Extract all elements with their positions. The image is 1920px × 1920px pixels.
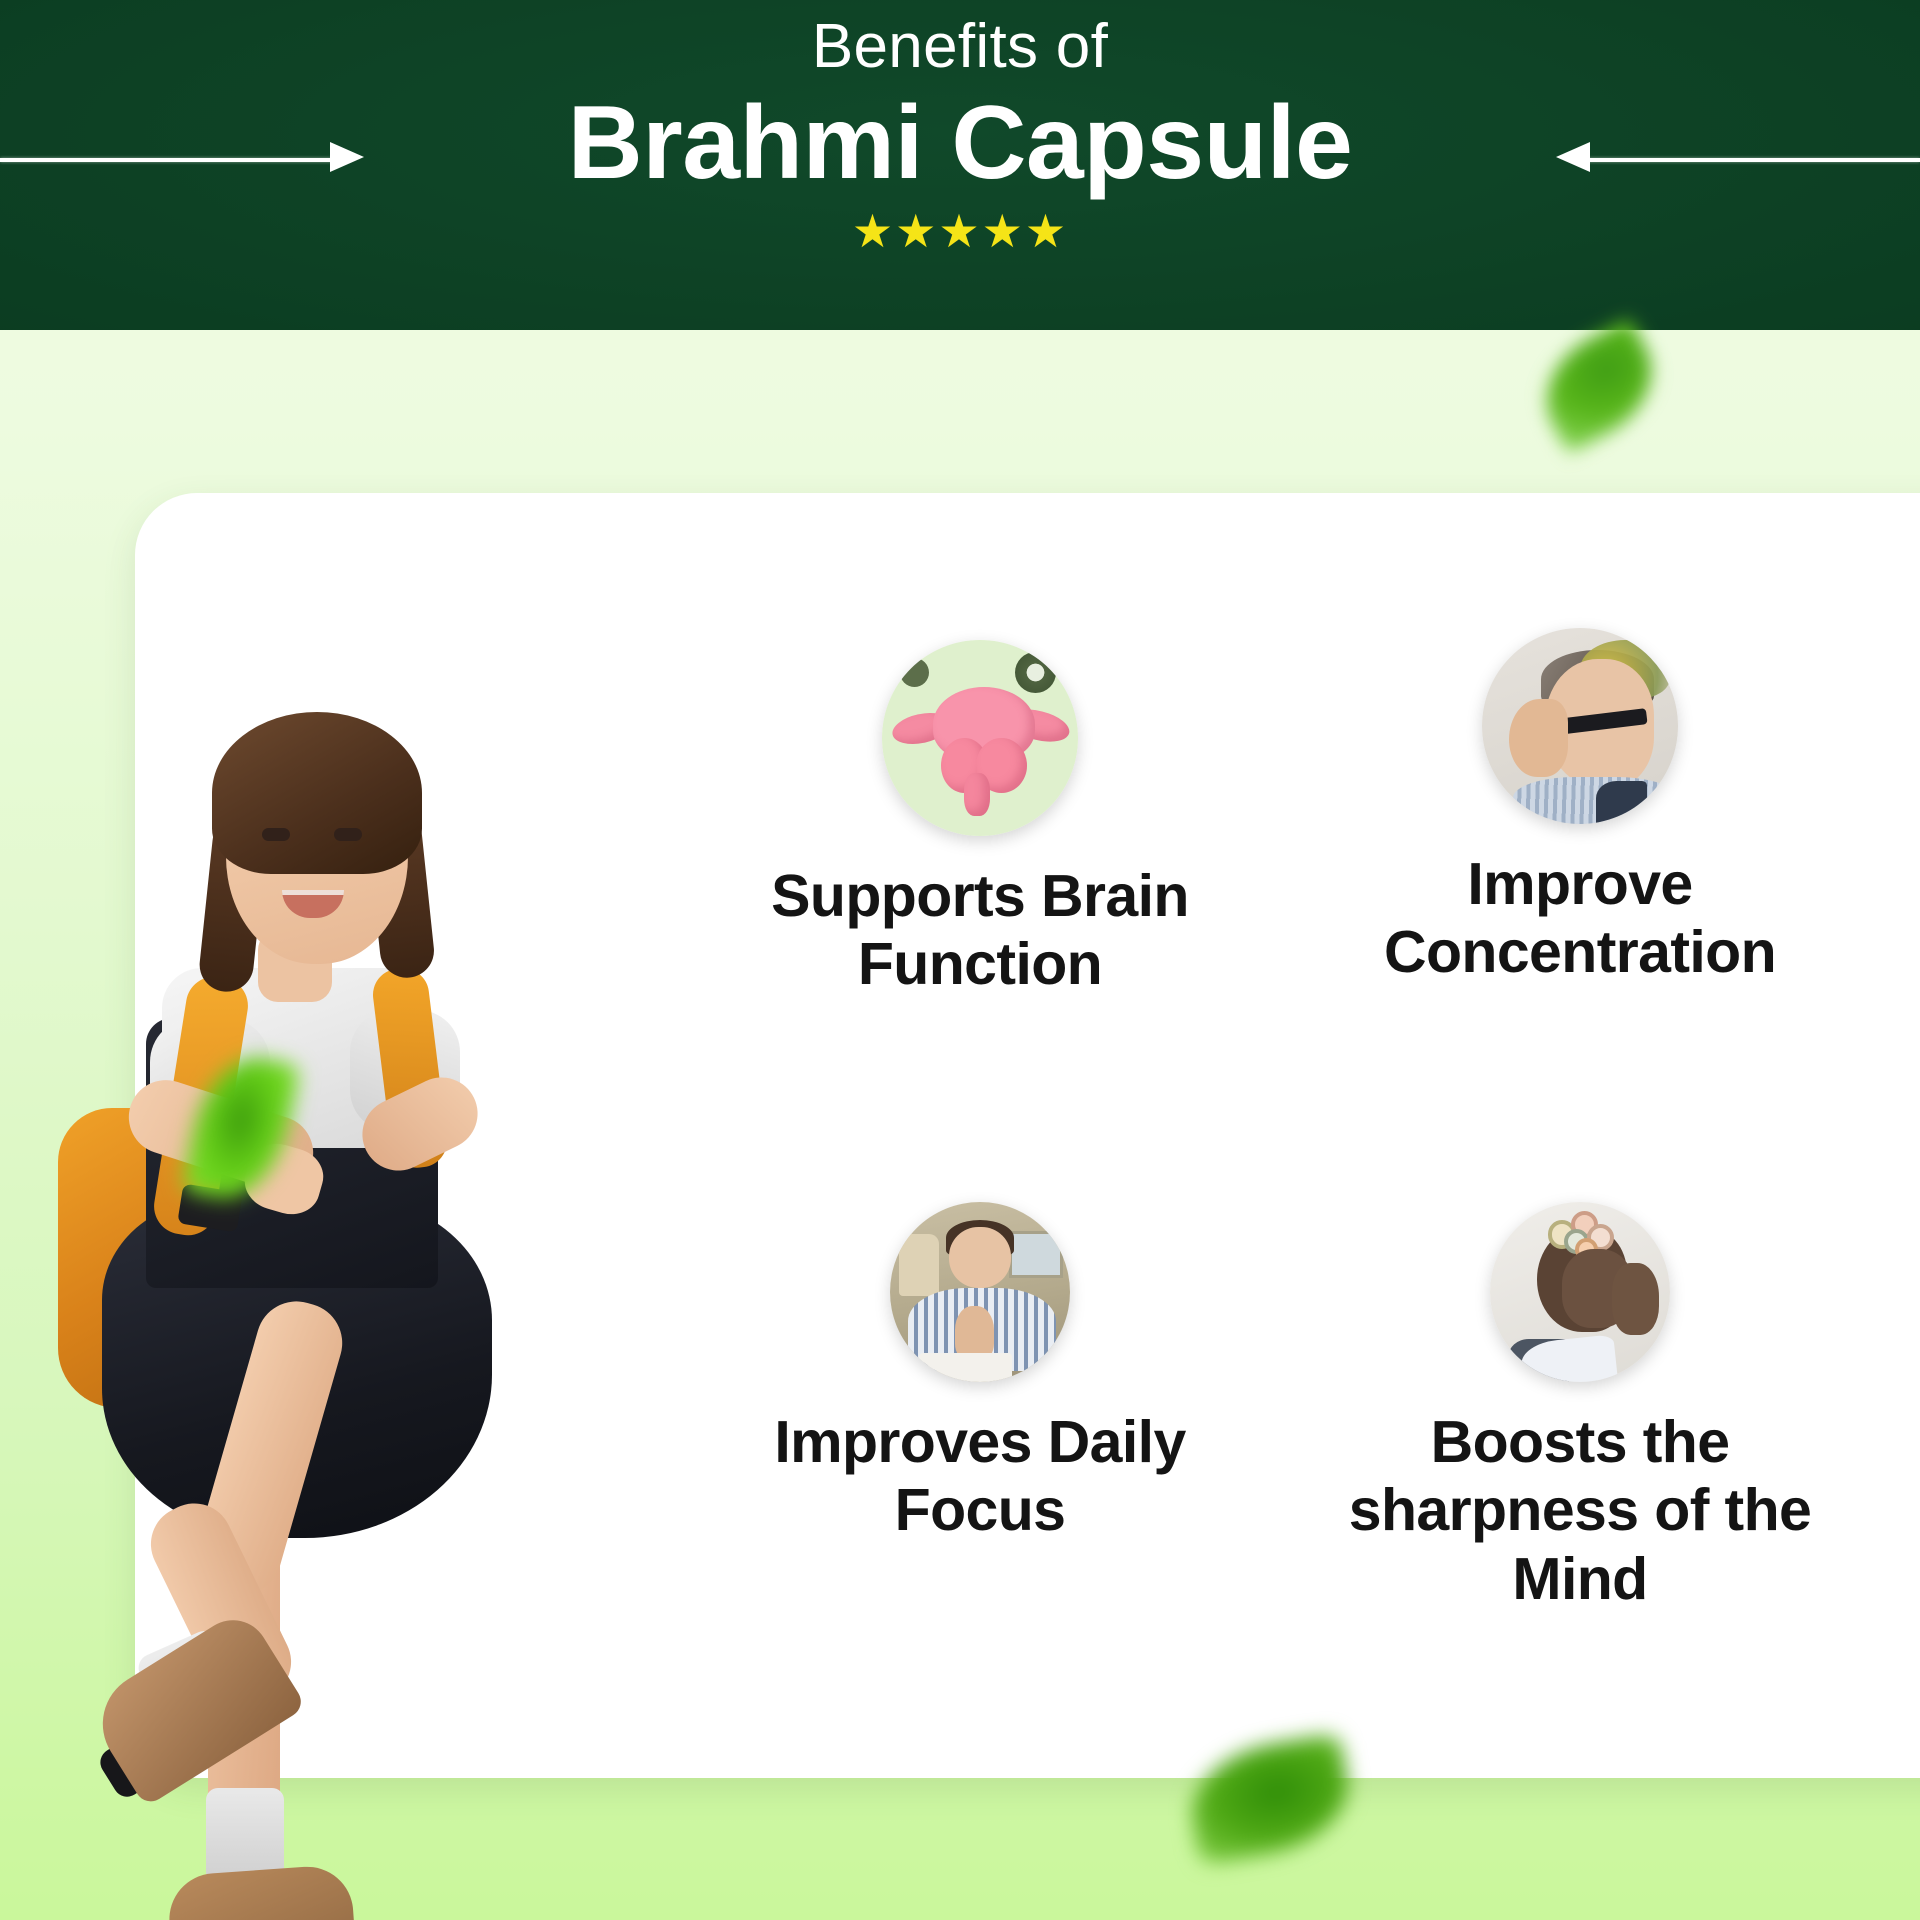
benefit-label: Boosts the sharpness of the Mind [1300,1408,1860,1613]
leaf-icon-top-right [1525,318,1672,455]
sharpness-icon [1490,1202,1670,1382]
brain-icon [882,640,1078,836]
benefit-label: Improve Concentration [1300,850,1860,987]
page-title: Brahmi Capsule [0,85,1920,201]
header-title-block: Benefits of Brahmi Capsule ★★★★★ [0,0,1920,254]
benefit-item-improve-concentration[interactable]: Improve Concentration [1300,630,1860,1148]
header-banner: Benefits of Brahmi Capsule ★★★★★ [0,0,1920,330]
benefit-label: Supports Brain Function [700,862,1260,999]
benefit-item-supports-brain-function[interactable]: Supports Brain Function [700,630,1260,1148]
benefit-item-improves-daily-focus[interactable]: Improves Daily Focus [700,1192,1260,1710]
star-rating: ★★★★★ [0,208,1920,254]
header-kicker: Benefits of [0,14,1920,79]
infographic-page: Benefits of Brahmi Capsule ★★★★★ [0,0,1920,1920]
concentration-icon [1482,628,1678,824]
focus-icon [890,1202,1070,1382]
benefit-item-boosts-sharpness-of-mind[interactable]: Boosts the sharpness of the Mind [1300,1192,1860,1710]
benefits-grid: Supports Brain Function Improve Concentr… [700,630,1860,1710]
schoolgirl-photo [30,498,530,1920]
benefit-label: Improves Daily Focus [700,1408,1260,1545]
